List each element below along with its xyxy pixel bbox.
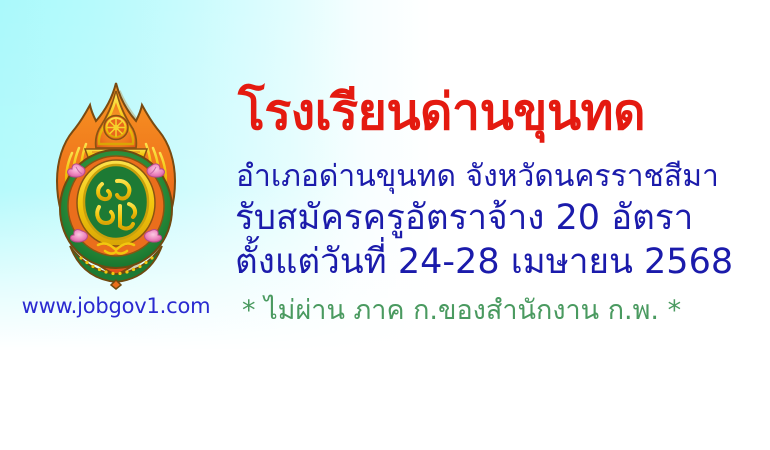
exemption-note-line: * ไม่ผ่าน ภาค ก.ของสำนักงาน ก.พ. * [242, 297, 681, 324]
emblem-medallion-inner-green [84, 165, 148, 239]
emblem-dharma-wheel [104, 116, 128, 140]
site-url-text: www.jobgov1.com [0, 294, 232, 318]
school-name-title: โรงเรียนด่านขุนทด [238, 87, 645, 137]
application-period-line: ตั้งแต่วันที่ 24-28 เมษายน 2568 [235, 245, 733, 280]
headline-column: โรงเรียนด่านขุนทด อำเภอด่านขุนทด จังหวัด… [234, 0, 770, 450]
job-announcement-poster: www.jobgov1.com โรงเรียนด่านขุนทด อำเภอด… [0, 0, 770, 450]
obec-thai-education-emblem-icon [50, 78, 182, 290]
vacancy-announcement-line: รับสมัครครูอัตราจ้าง 20 อัตรา [235, 201, 693, 236]
brand-column: www.jobgov1.com [0, 0, 232, 450]
district-province-line: อำเภอด่านขุนทด จังหวัดนครราชสีมา [236, 162, 719, 192]
